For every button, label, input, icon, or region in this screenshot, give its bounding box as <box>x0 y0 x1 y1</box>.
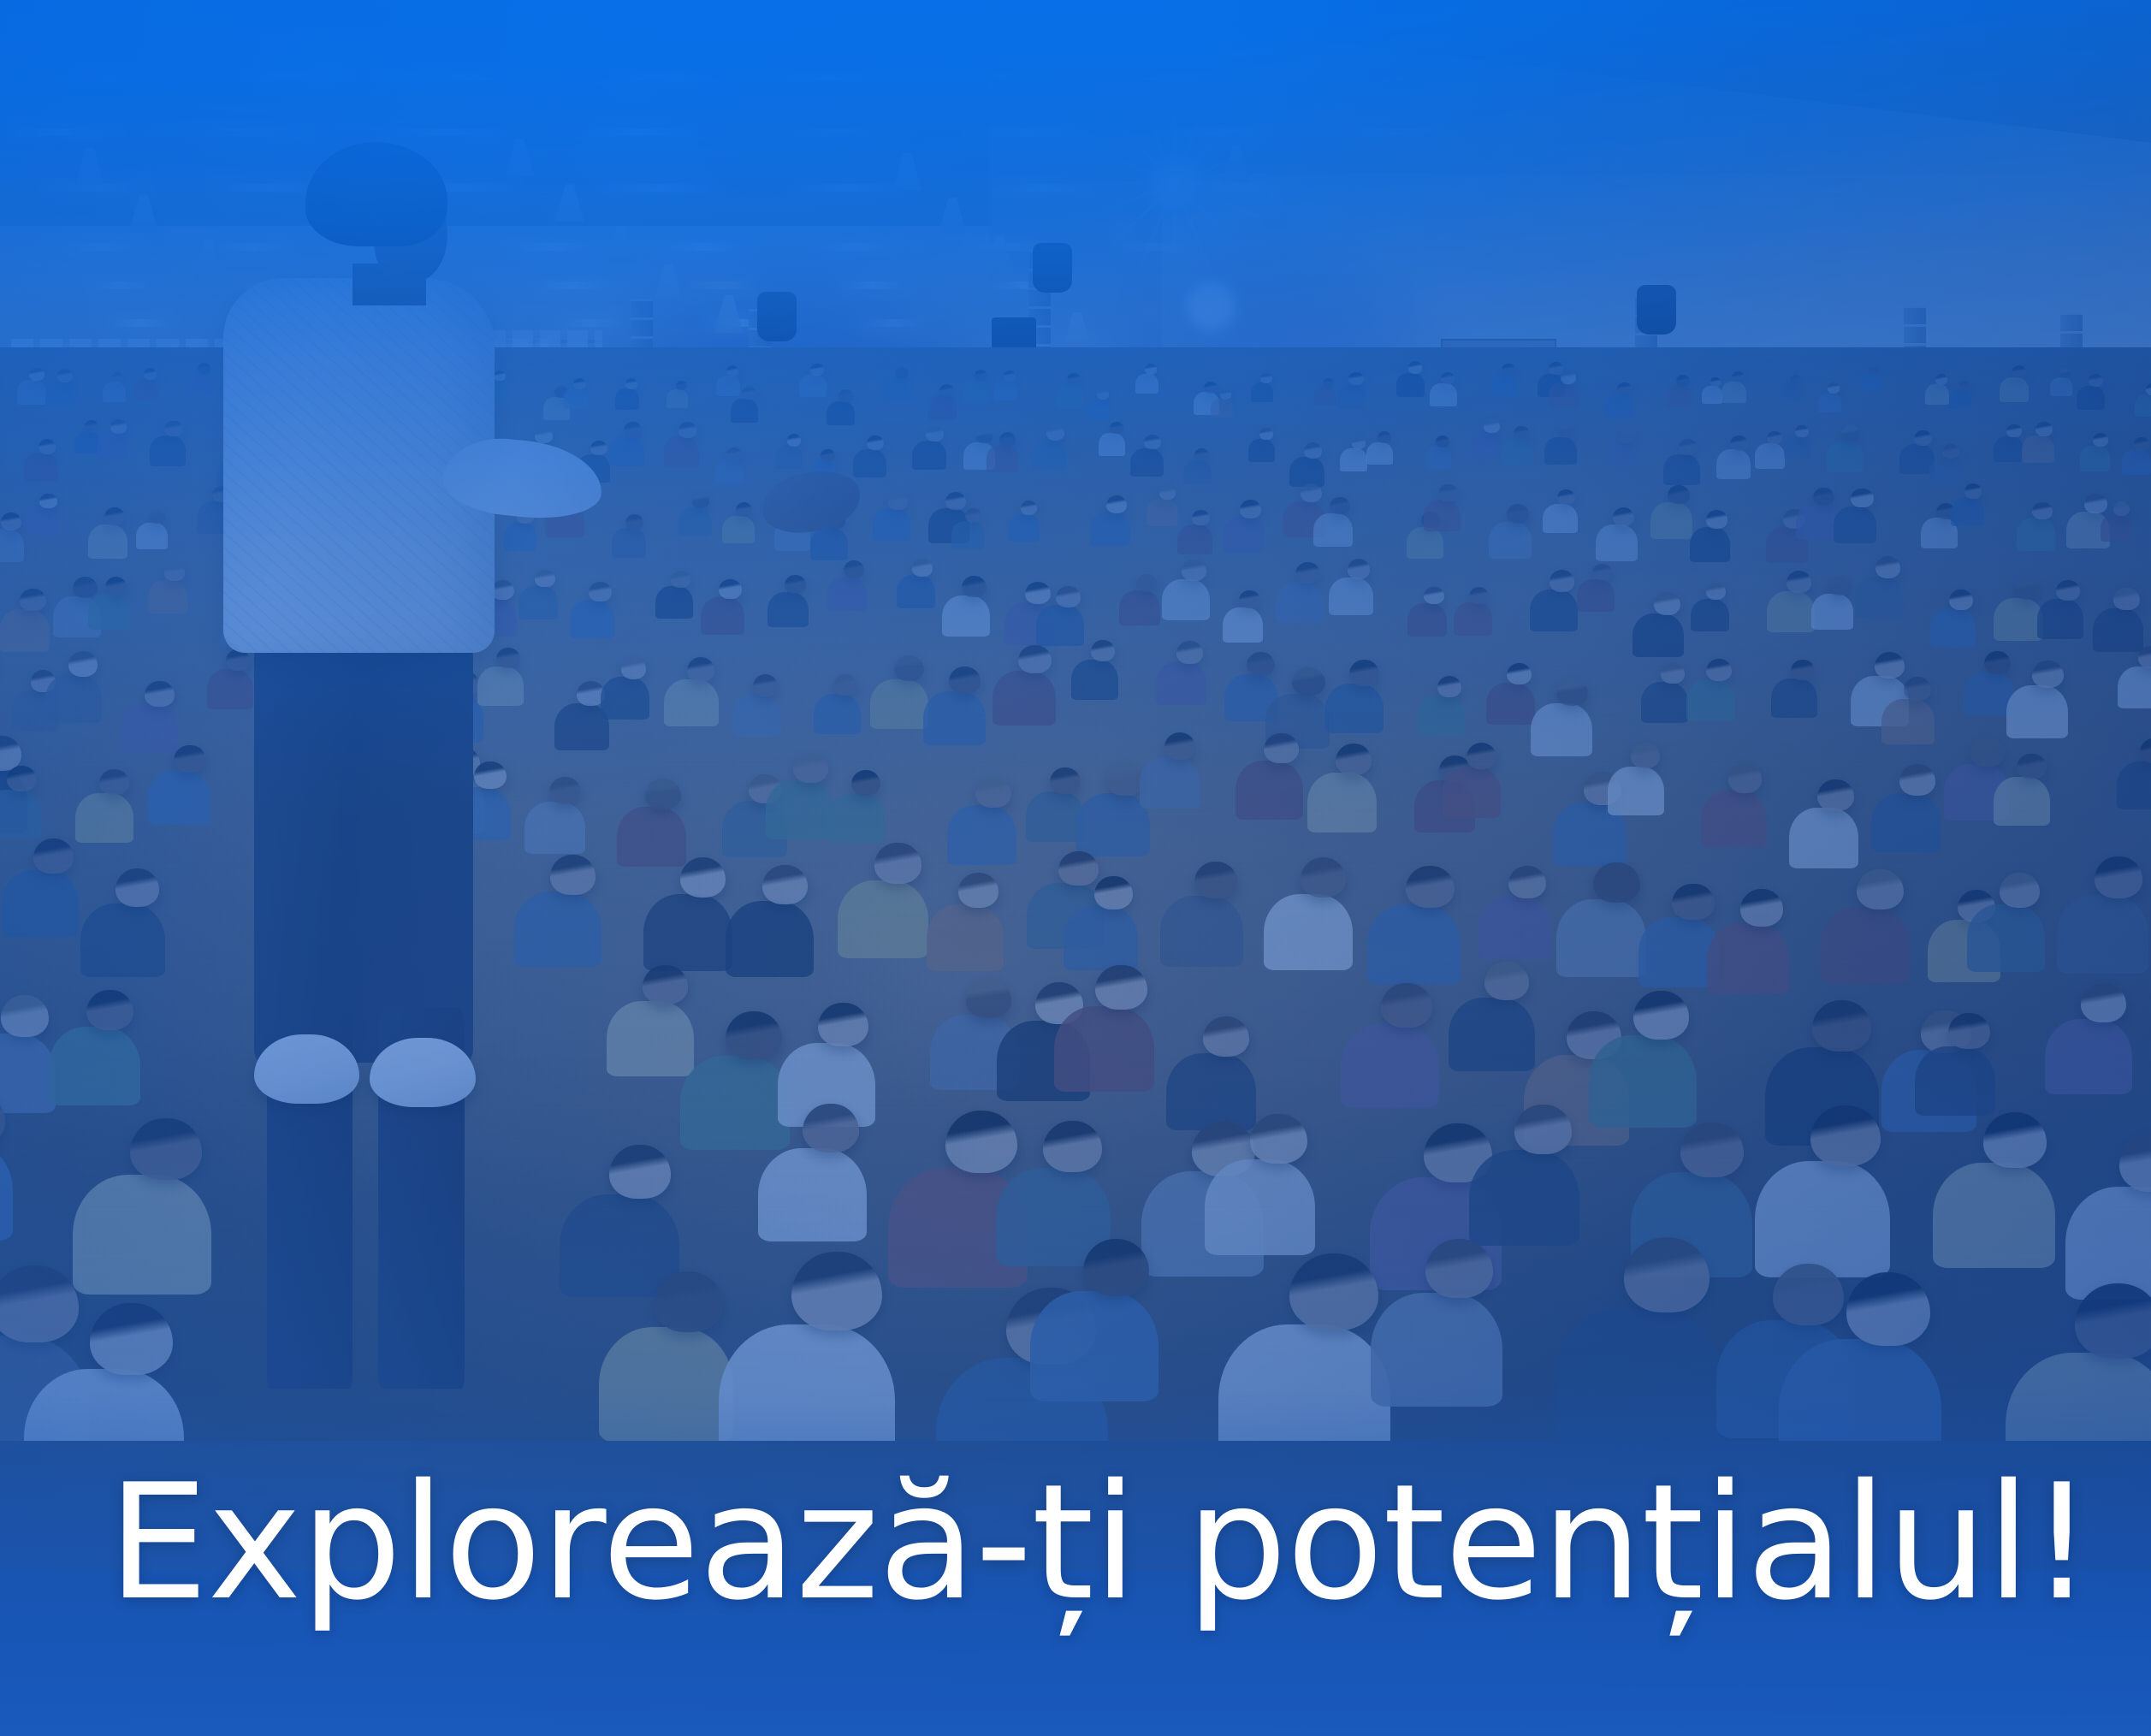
hero-banner: Explorează-ți potențialul! <box>0 0 2151 1736</box>
banner-headline: Explorează-ți potențialul! <box>108 1463 2093 1622</box>
